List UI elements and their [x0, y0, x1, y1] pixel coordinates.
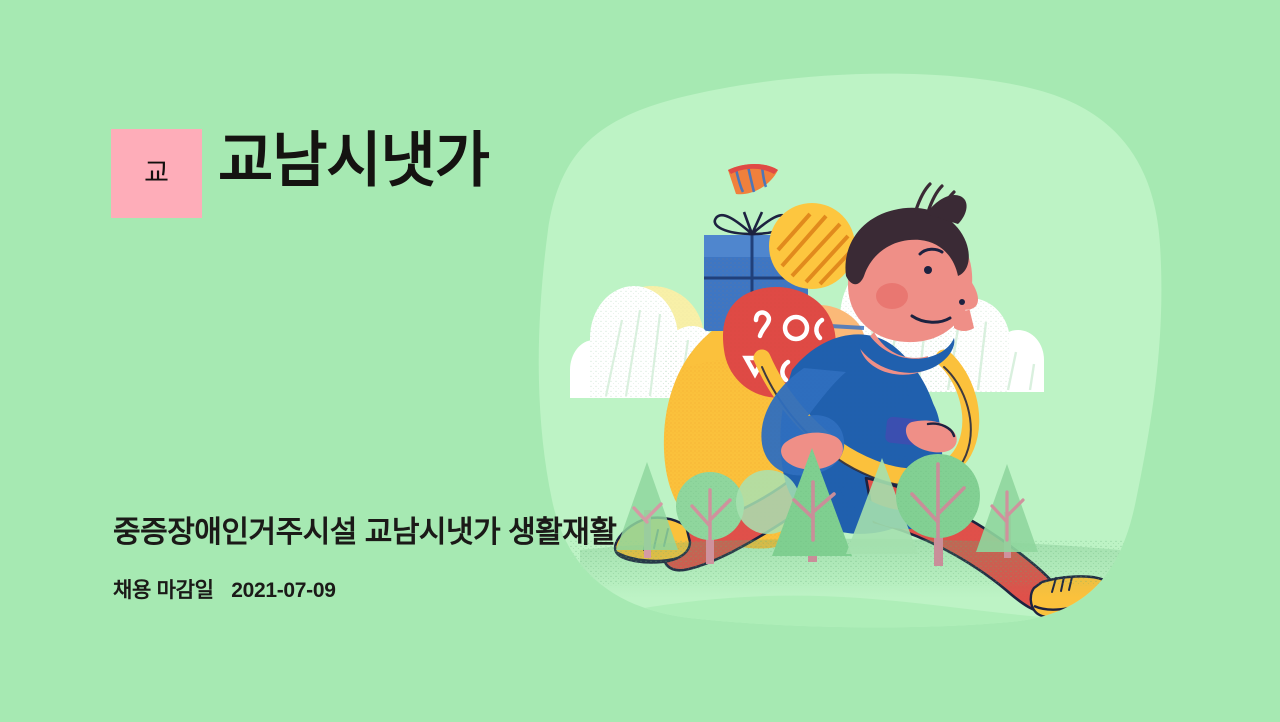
confetti-piece — [728, 164, 778, 194]
gift-box — [704, 212, 808, 331]
company-logo-badge: 교 — [111, 129, 202, 218]
tree-round — [896, 454, 980, 566]
tree-conical — [616, 462, 678, 558]
job-posting-card: 교 교남시냇가 중증장애인거주시설 교남시냇가 생활재활 채용 마감일 2021… — [0, 0, 1280, 722]
job-title: 중증장애인거주시설 교남시냇가 생활재활 — [113, 507, 616, 551]
gift-sack — [664, 314, 850, 549]
tree-row — [616, 448, 1038, 566]
company-name: 교남시냇가 — [218, 128, 489, 194]
deadline-row: 채용 마감일 2021-07-09 — [113, 574, 336, 604]
ground-wave — [540, 596, 1164, 650]
runner-head — [845, 184, 978, 375]
cloud-right — [840, 252, 1044, 392]
sack-strap — [762, 358, 971, 486]
runner-front-arm — [885, 370, 957, 458]
ground-texture — [570, 539, 1130, 598]
tree-conical — [976, 464, 1038, 558]
deadline-date: 2021-07-09 — [231, 579, 335, 602]
runner-figure — [615, 184, 1110, 617]
background-blob — [539, 74, 1162, 628]
runner-back-leg — [615, 474, 830, 570]
tree-round — [676, 472, 744, 564]
runner-front-leg — [866, 478, 1110, 617]
striped-ball — [769, 203, 855, 289]
runner-torso — [780, 334, 942, 533]
patterned-ball — [723, 287, 836, 398]
striped-ball-small — [786, 305, 866, 386]
company-logo-icon: 교 — [144, 160, 169, 187]
deadline-label: 채용 마감일 — [113, 579, 214, 602]
tree-round — [736, 470, 800, 534]
tree-conical — [846, 458, 918, 554]
runner-back-arm — [761, 368, 846, 476]
tree-conical — [772, 448, 852, 562]
running-delivery-man-illustration — [530, 70, 1170, 650]
cloud-left — [570, 286, 748, 398]
sun — [600, 286, 704, 390]
